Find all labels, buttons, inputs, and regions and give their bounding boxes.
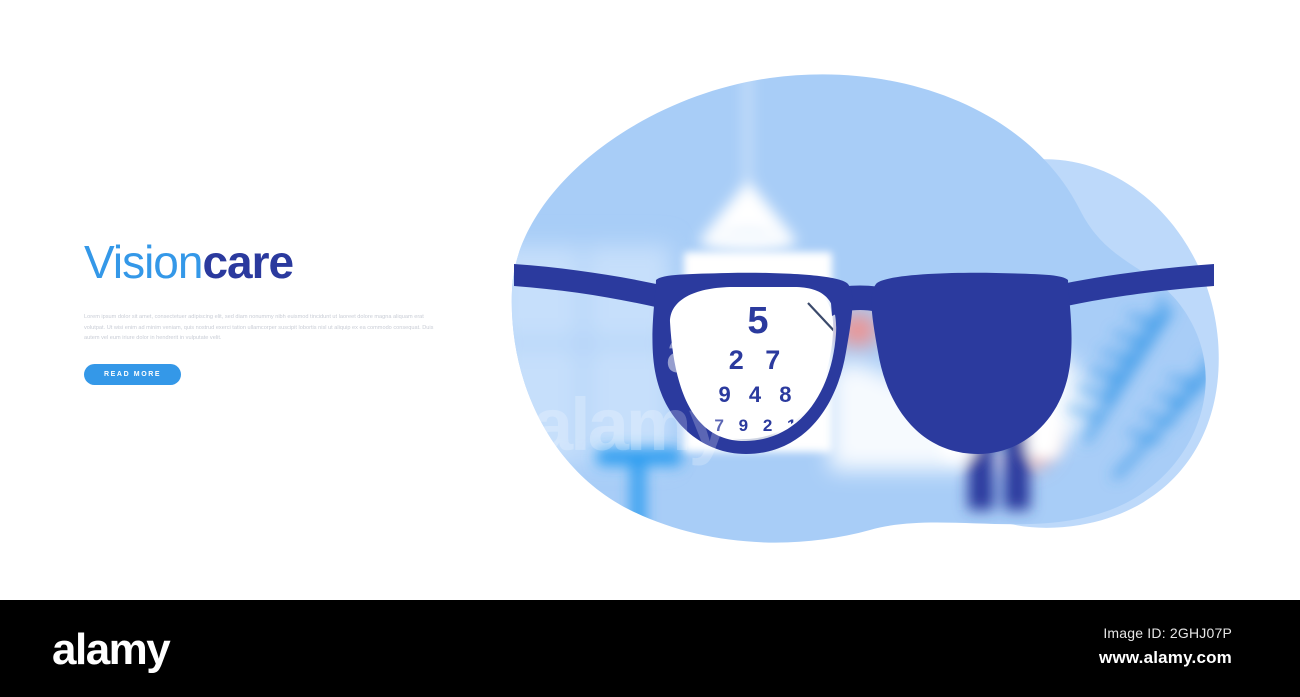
alamy-logo: alamy <box>52 625 169 675</box>
hero-stage: Visioncare Lorem ipsum dolor sit amet, c… <box>0 0 1300 600</box>
eye-chart-row-2: 2 7 <box>729 345 788 375</box>
eye-chart-row-3: 9 4 8 <box>719 382 798 407</box>
hero-text-column: Visioncare Lorem ipsum dolor sit amet, c… <box>84 238 444 385</box>
alamy-url-label: www.alamy.com <box>1099 648 1232 668</box>
eye-chart-row-1: 5 <box>747 300 768 342</box>
page-title: Visioncare <box>84 238 444 286</box>
page-title-part-2: care <box>202 236 293 288</box>
illustration-svg: 5 2 7 9 4 8 7 9 2 1 <box>470 40 1230 560</box>
page-title-part-1: Vision <box>84 236 202 288</box>
watermark-glyph-alamy: alamy <box>532 383 730 466</box>
hero-paragraph: Lorem ipsum dolor sit amet, consectetuer… <box>84 312 439 343</box>
image-id-label: Image ID: 2GHJ07P <box>1103 625 1232 641</box>
watermark-glyph-a-top: a <box>666 317 701 386</box>
read-more-button[interactable]: READ MORE <box>84 364 181 385</box>
vision-care-illustration: 5 2 7 9 4 8 7 9 2 1 <box>470 40 1230 560</box>
